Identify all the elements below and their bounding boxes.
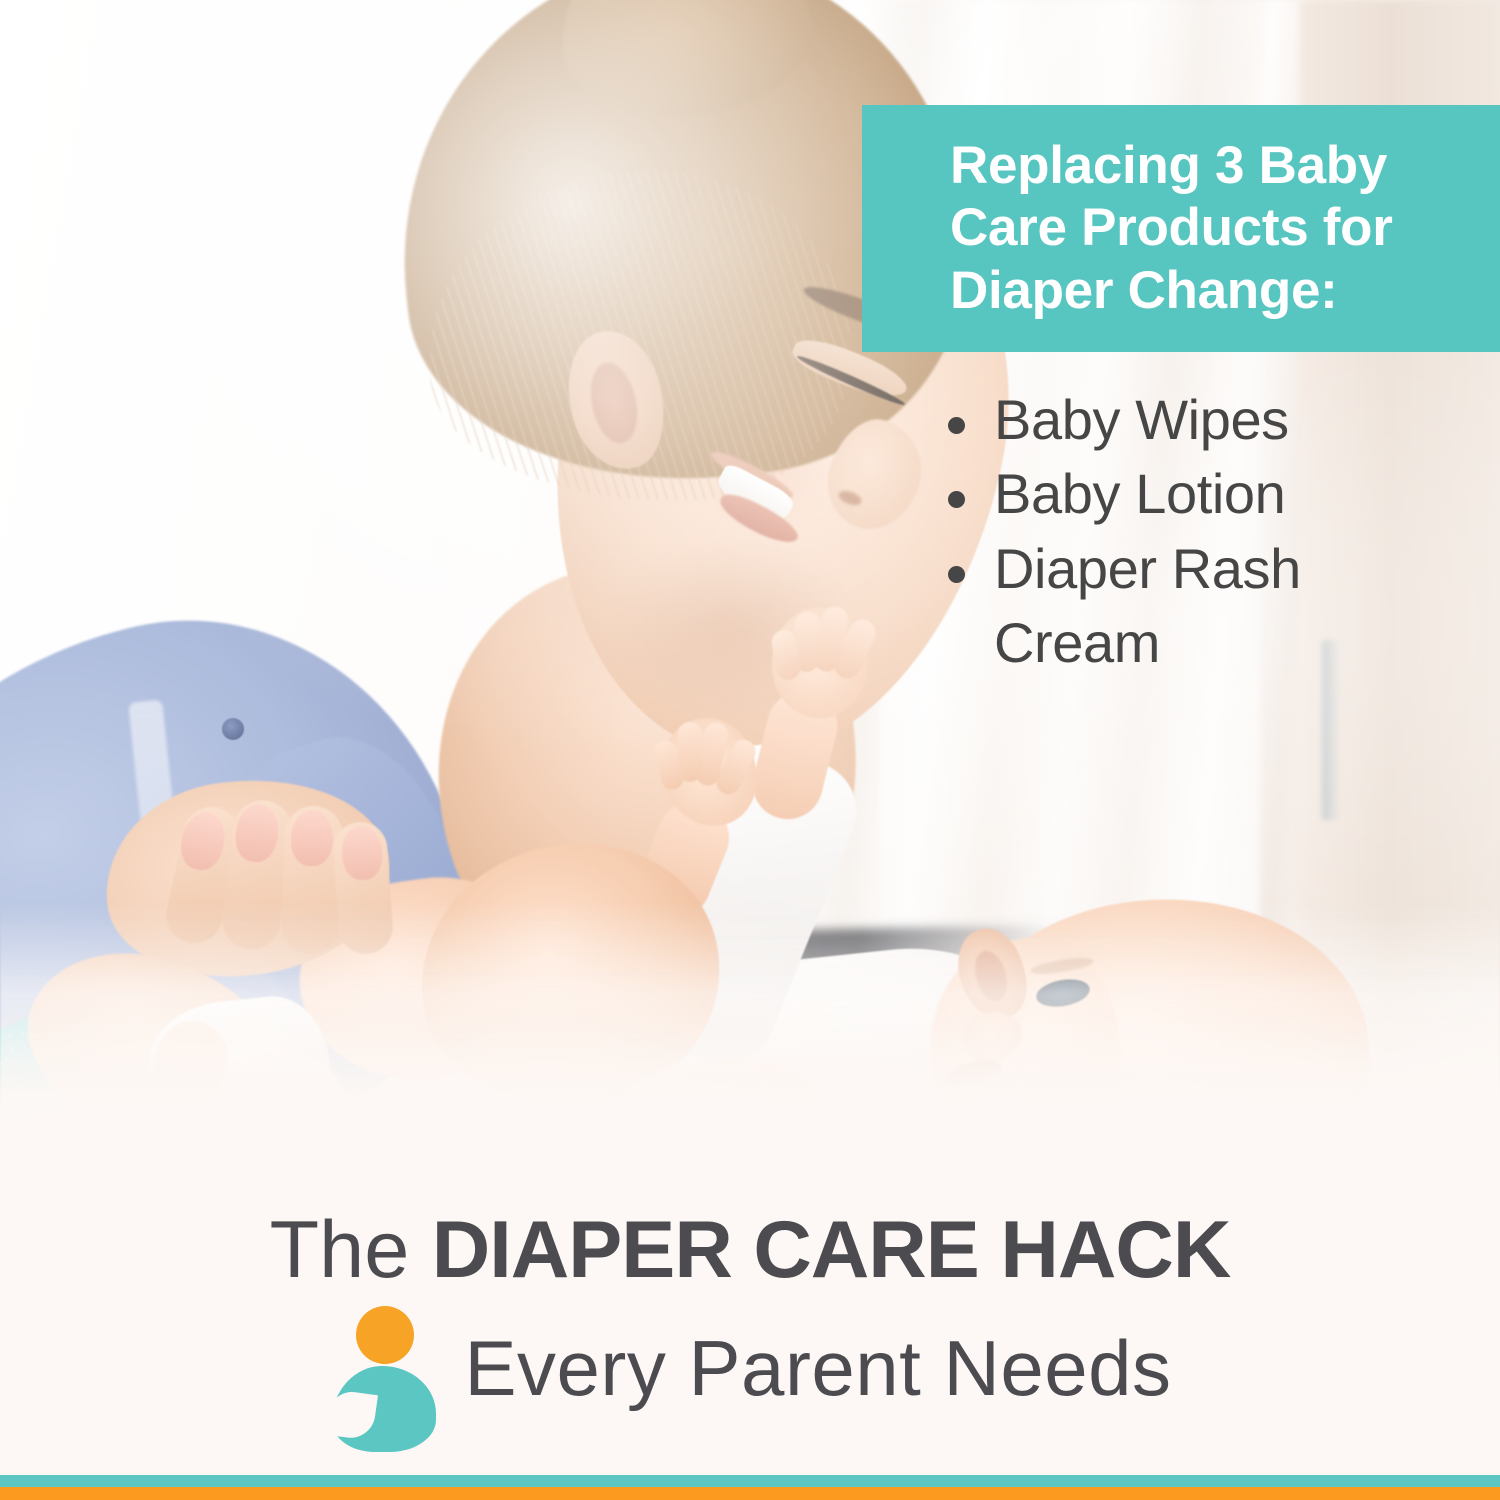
mother-fingernail [290, 809, 334, 866]
footer-stripe-teal [0, 1475, 1500, 1487]
shirt-button [222, 718, 244, 740]
changing-table-surface [0, 902, 1500, 1132]
parent-and-child-logo-icon [328, 1304, 438, 1432]
product-list: Baby Wipes Baby Lotion Diaper Rash Cream [938, 383, 1408, 681]
list-item-label: Diaper Rash Cream [994, 537, 1301, 674]
headline-line-1: The DIAPER CARE HACK [0, 1210, 1500, 1291]
list-item: Baby Wipes [938, 383, 1408, 457]
list-item: Diaper Rash Cream [938, 532, 1408, 681]
list-item-label: Baby Wipes [994, 388, 1289, 451]
headline-line-2-row: Every Parent Needs [0, 1304, 1500, 1432]
headline-emphasis: DIAPER CARE HACK [432, 1205, 1231, 1295]
poster-canvas: Replacing 3 Baby Care Products for Diape… [0, 0, 1500, 1500]
list-item: Baby Lotion [938, 457, 1408, 531]
headline-band: The DIAPER CARE HACK Every Parent Needs [0, 1132, 1500, 1475]
headline-prefix: The [270, 1205, 432, 1295]
list-item-label: Baby Lotion [994, 462, 1285, 525]
headline-line-2: Every Parent Needs [464, 1329, 1171, 1407]
banner-title: Replacing 3 Baby Care Products for Diape… [862, 135, 1415, 323]
logo-head-circle-icon [356, 1306, 414, 1364]
logo-body-shape-icon [332, 1366, 436, 1452]
teal-callout-banner: Replacing 3 Baby Care Products for Diape… [862, 105, 1500, 352]
footer-stripe-orange [0, 1487, 1500, 1500]
